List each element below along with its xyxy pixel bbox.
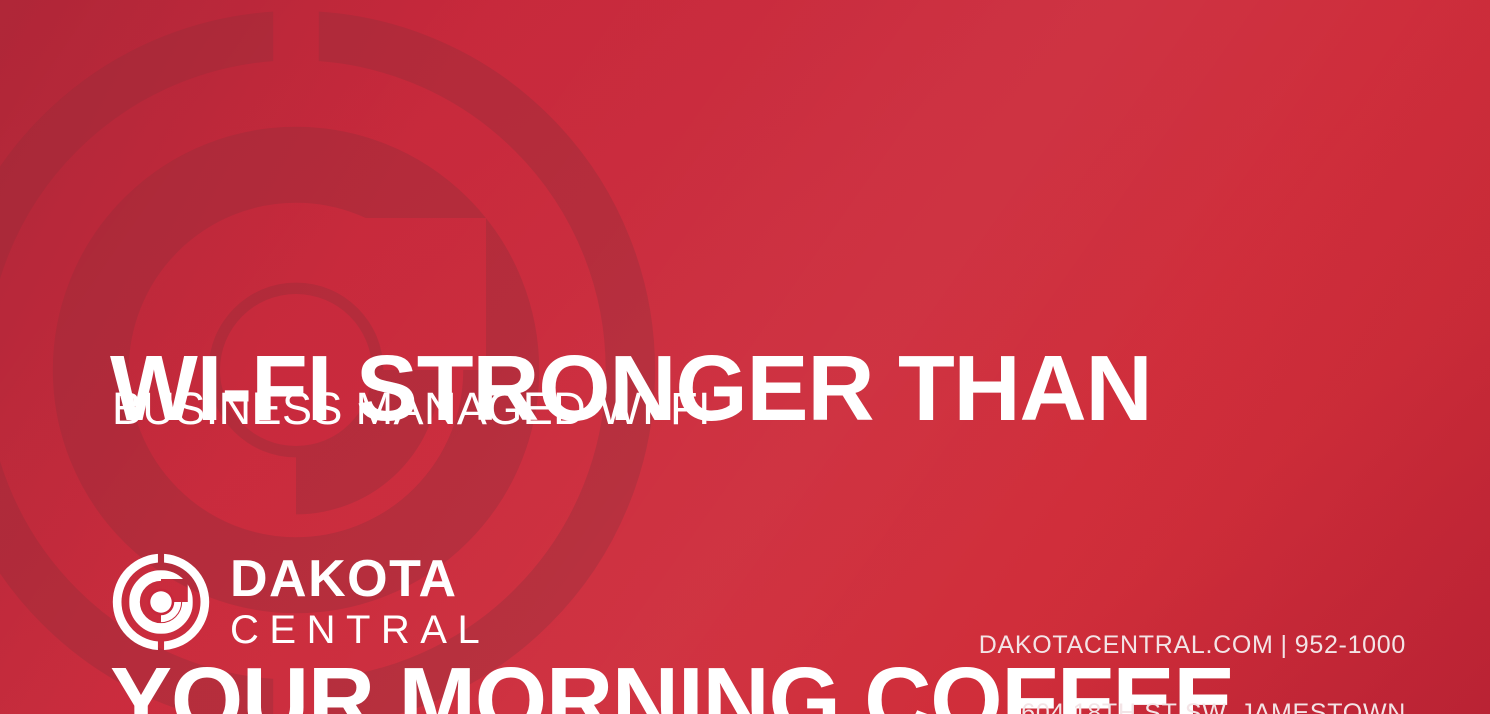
contact-line-address: 604 18TH ST SW, JAMESTOWN xyxy=(933,696,1406,714)
phone-text: 952-1000 xyxy=(1295,631,1406,659)
brand-name-secondary: CENTRAL xyxy=(230,608,490,652)
contact-line-website-phone: DAKOTACENTRAL.COM|952-1000 xyxy=(933,594,1406,696)
subheading: BUSINESS MANAGED WI-FI xyxy=(112,384,711,434)
contact-separator: | xyxy=(1274,631,1295,659)
brand-name-primary: DAKOTA xyxy=(230,554,490,604)
dakota-central-circle-mark-icon xyxy=(110,551,212,653)
website-text: DAKOTACENTRAL.COM xyxy=(979,631,1274,659)
brand-logo-lockup: DAKOTA CENTRAL xyxy=(110,551,490,653)
brand-wordmark: DAKOTA CENTRAL xyxy=(230,551,490,652)
advertisement-banner: WI-FI STRONGER THAN YOUR MORNING COFFEE … xyxy=(0,0,1490,714)
contact-info: DAKOTACENTRAL.COM|952-1000 604 18TH ST S… xyxy=(933,594,1406,714)
